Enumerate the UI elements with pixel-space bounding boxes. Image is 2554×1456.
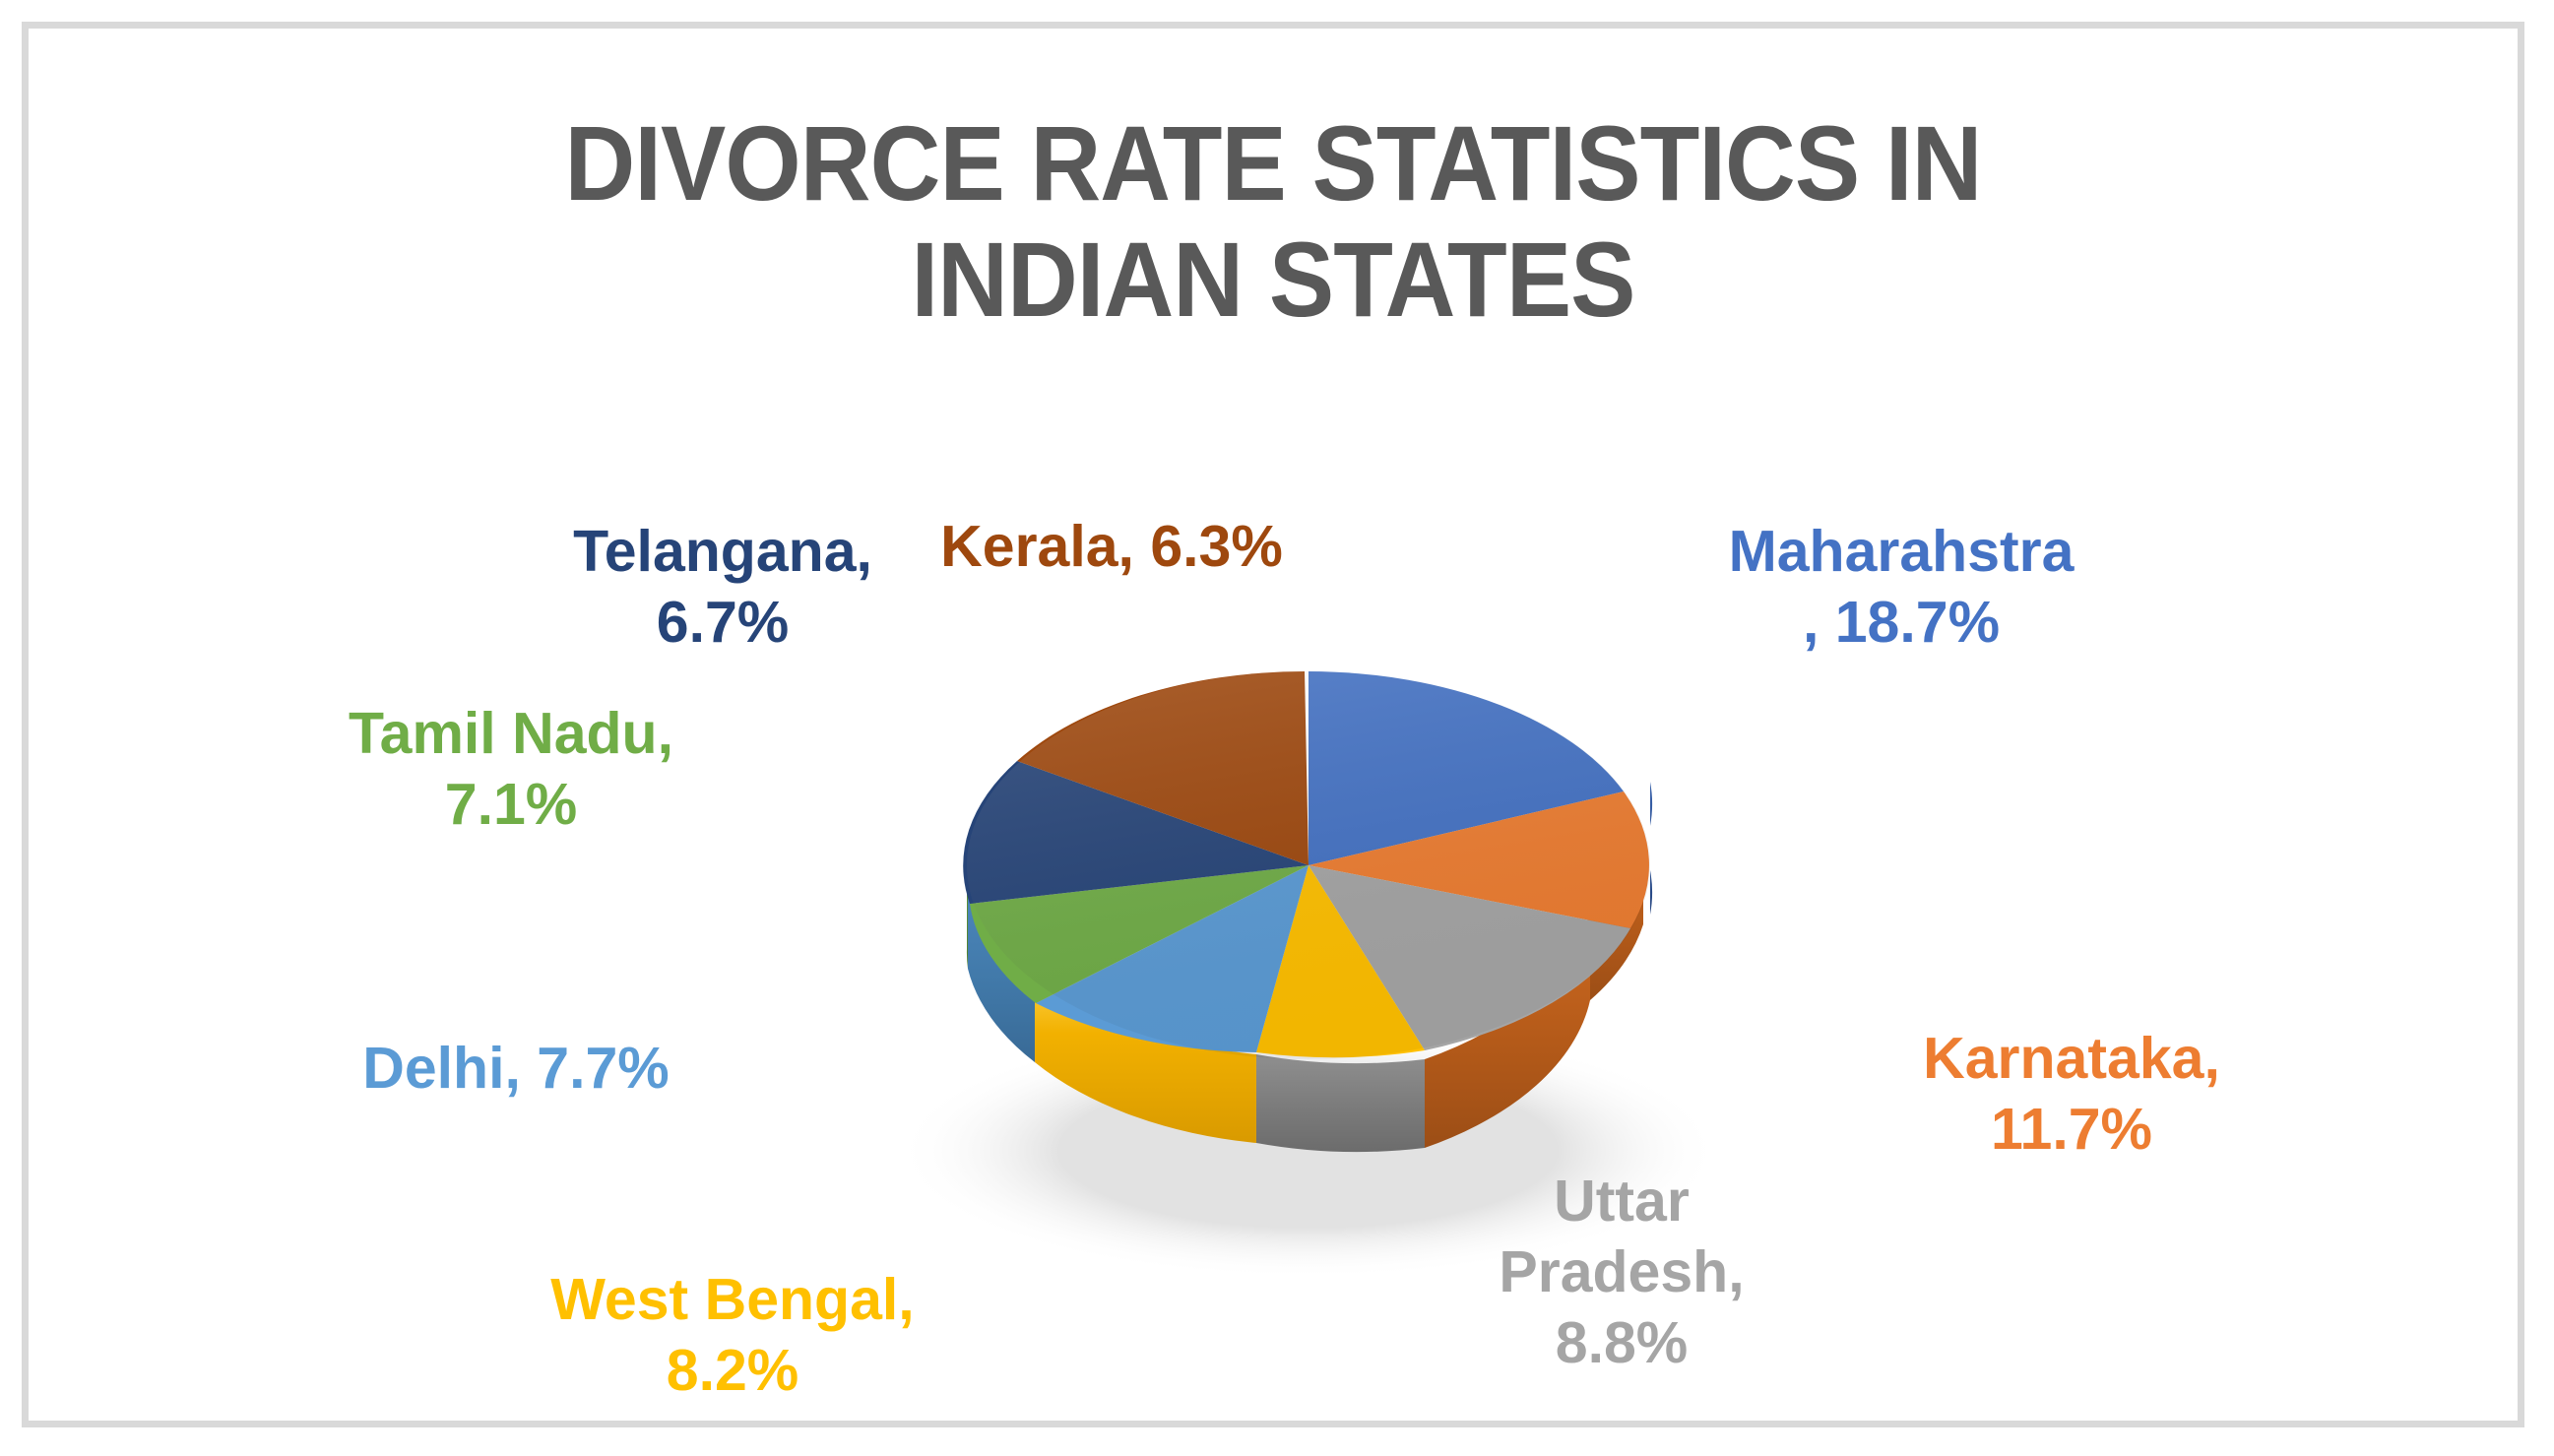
- chart-page: DIVORCE RATE STATISTICS IN INDIAN STATES: [0, 0, 2554, 1456]
- data-label-tamil-nadu: Tamil Nadu, 7.1%: [280, 698, 742, 840]
- data-label-uttar-pradesh: Uttar Pradesh, 8.8%: [1474, 1166, 1769, 1378]
- pie-slice-karnataka: [1309, 791, 1649, 928]
- pie-top-faces: [963, 671, 1650, 1059]
- data-label-karnataka: Karnataka, 11.7%: [1840, 1023, 2303, 1165]
- pie-slice-delhi: [1036, 865, 1309, 1052]
- data-label-west-bengal: West Bengal, 8.2%: [467, 1264, 998, 1406]
- pie-slice-telangana: [963, 761, 1309, 904]
- chart-title-line-1: DIVORCE RATE STATISTICS IN: [128, 105, 2418, 222]
- chart-title-line-2: INDIAN STATES: [128, 222, 2418, 338]
- pie-side-walls: [967, 782, 1652, 1152]
- data-label-delhi: Delhi, 7.7%: [294, 1033, 737, 1104]
- pie-slice-kerala: [1017, 671, 1309, 865]
- pie-slice-uttar-pradesh: [1309, 865, 1630, 1050]
- pie-slice-west-bengal: [1256, 865, 1425, 1057]
- data-label-maharashtra: Maharahstra , 18.7%: [1626, 516, 2177, 658]
- chart-frame: DIVORCE RATE STATISTICS IN INDIAN STATES: [22, 22, 2524, 1427]
- data-label-kerala: Kerala, 6.3%: [816, 511, 1407, 582]
- chart-title: DIVORCE RATE STATISTICS IN INDIAN STATES: [128, 105, 2418, 338]
- pie-slice-maharashtra: [1309, 671, 1624, 865]
- pie-slice-tamil-nadu: [970, 865, 1309, 1003]
